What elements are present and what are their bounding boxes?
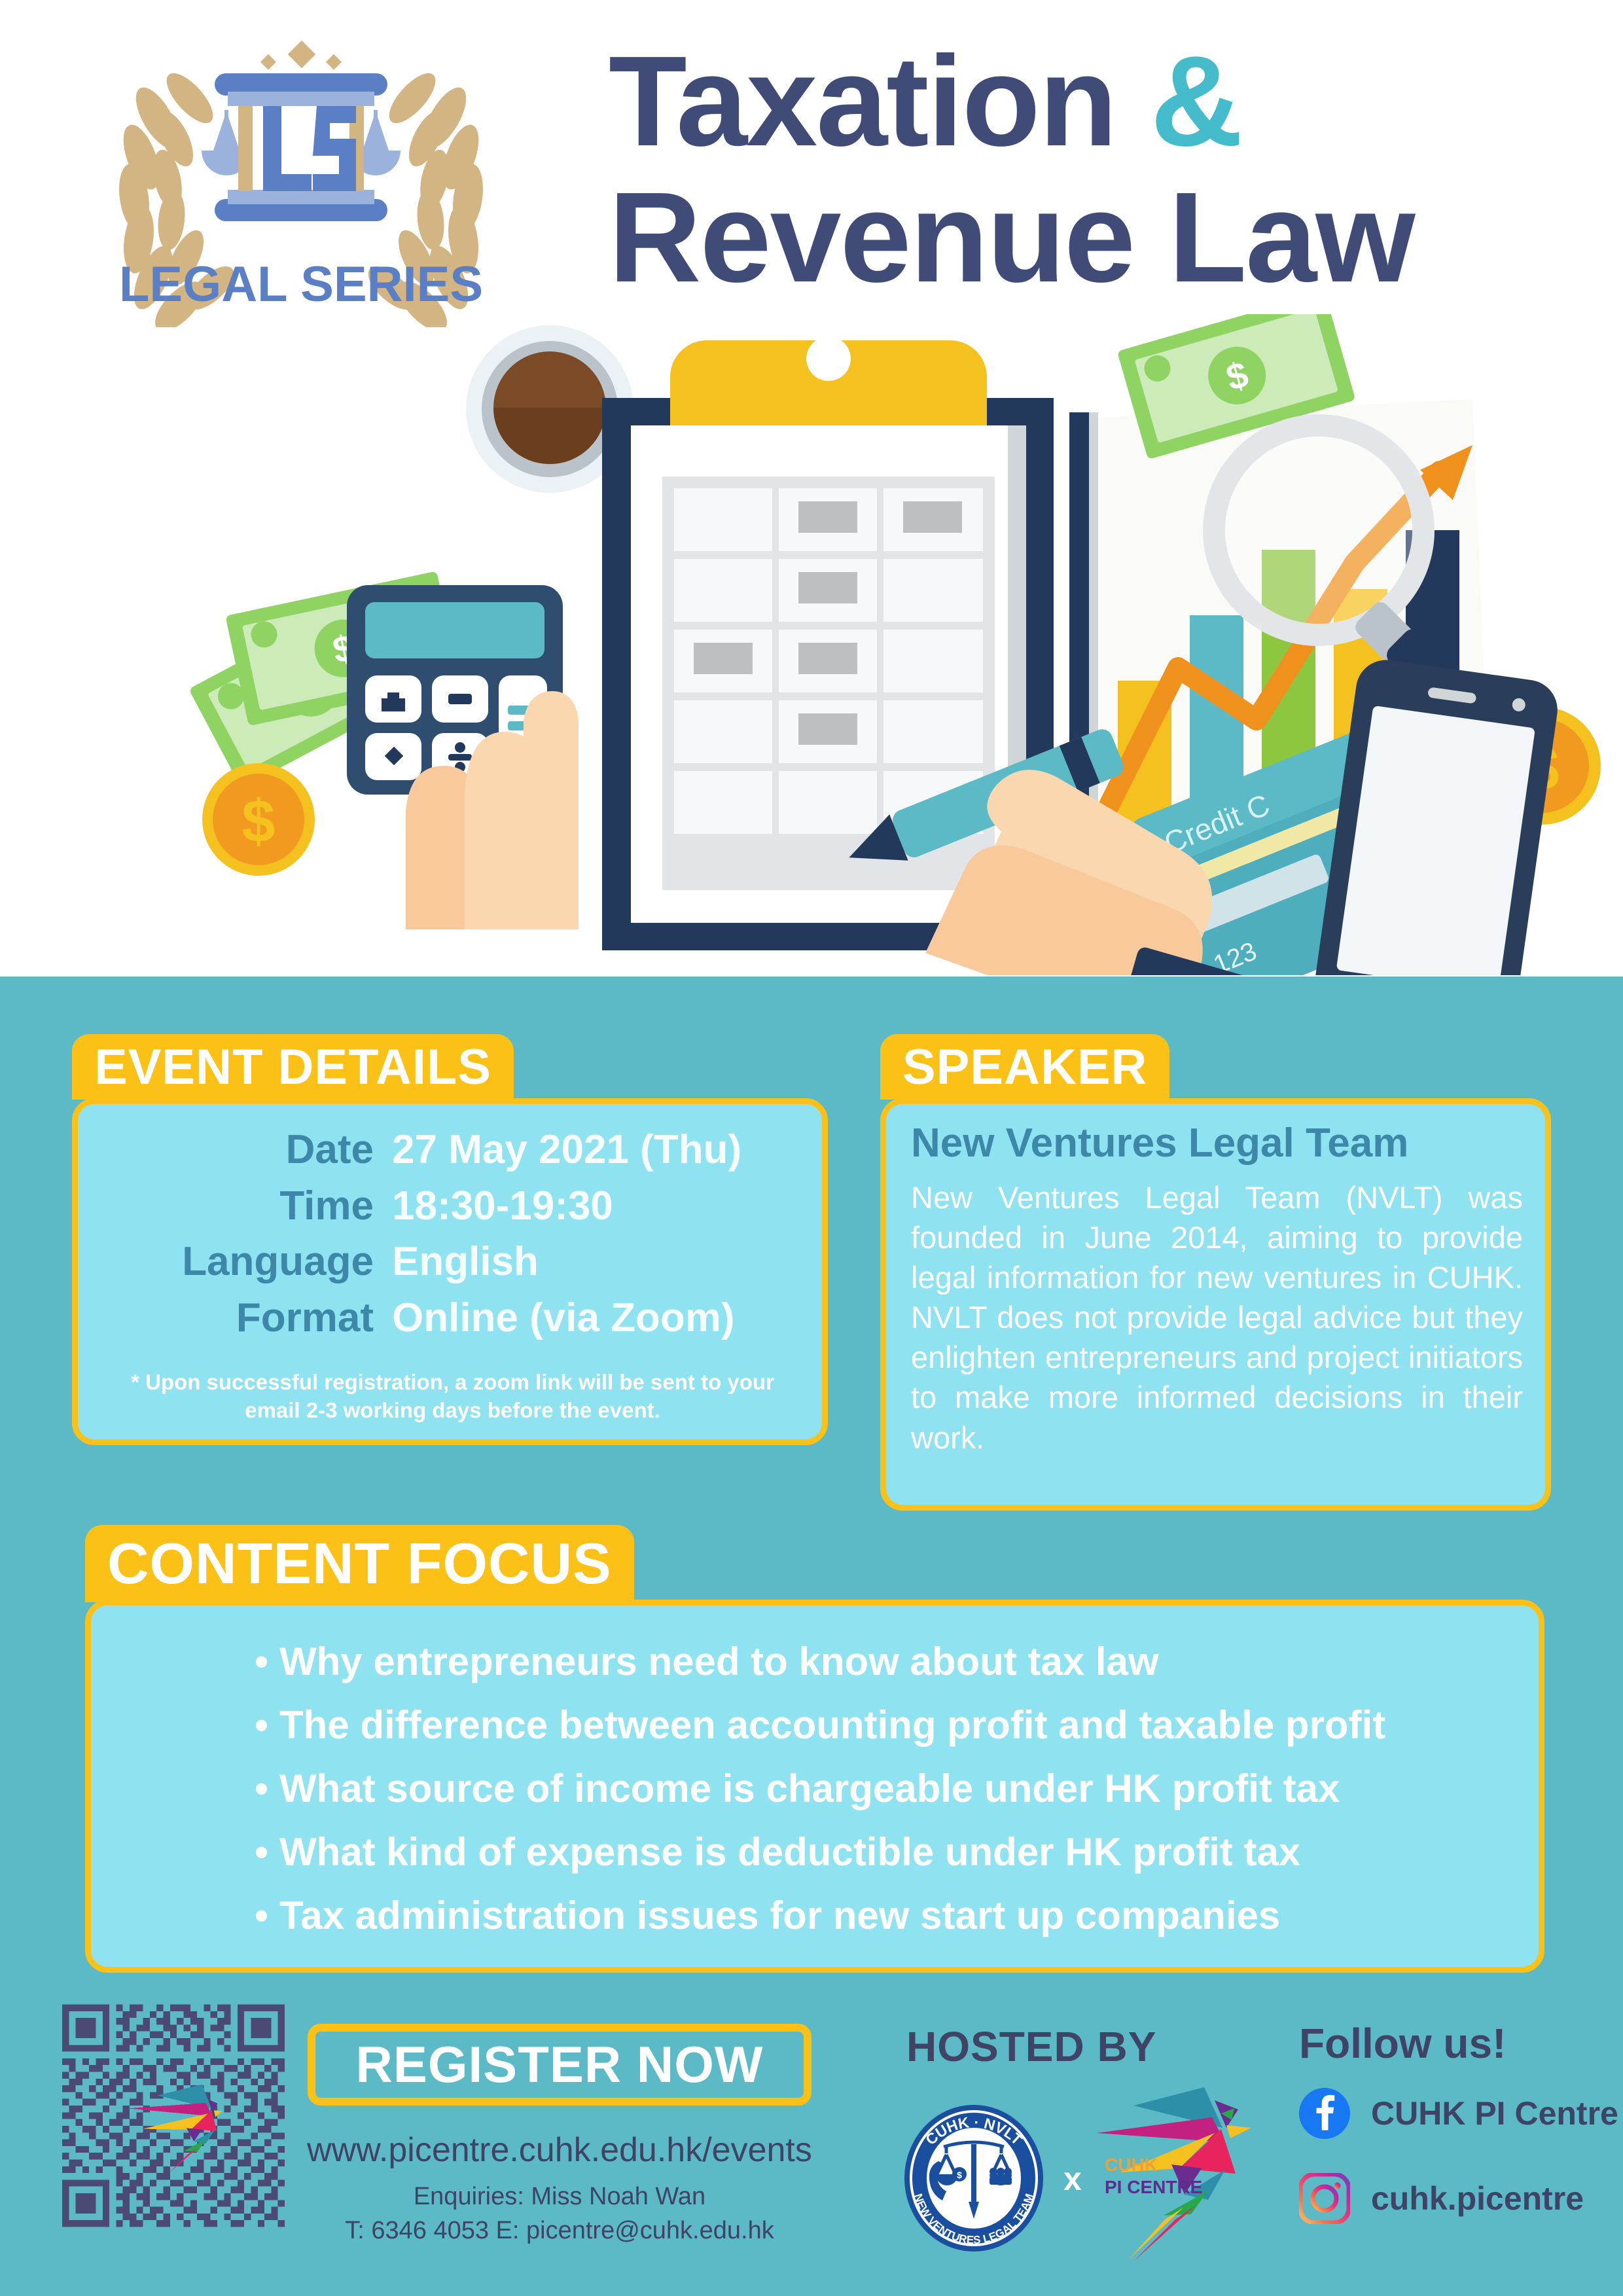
list-item: • The difference between accounting prof… (91, 1700, 1539, 1749)
hosted-by-label: HOSTED BY (906, 2022, 1156, 2071)
event-value-time: 18:30-19:30 (392, 1181, 613, 1231)
poster-root: LEGAL SERIES Taxation & Revenue Law $ (0, 0, 1623, 2296)
speaker-name: New Ventures Legal Team (911, 1121, 1525, 1166)
legal-series-logo-text: LEGAL SERIES (119, 257, 483, 312)
speaker-tab: SPEAKER (880, 1034, 1169, 1100)
event-details-tab: EVENT DETAILS (72, 1034, 514, 1100)
hero-section: LEGAL SERIES Taxation & Revenue Law $ (0, 0, 1623, 977)
event-value-format: Online (via Zoom) (392, 1293, 735, 1343)
bullet-icon: • (255, 1637, 279, 1686)
content-focus-item-text: What source of income is chargeable unde… (279, 1764, 1340, 1813)
content-focus-item-text: The difference between accounting profit… (279, 1700, 1385, 1749)
event-row-format: Format Online (via Zoom) (78, 1293, 822, 1343)
svg-text:$: $ (957, 2170, 962, 2180)
title-line-2: Revenue Law (609, 172, 1453, 303)
qr-code[interactable] (62, 2003, 285, 2229)
facebook-handle: CUHK PI Centre (1371, 2094, 1618, 2132)
gold-coin-icon-left: $ (202, 763, 315, 876)
enquiries-text: Enquiries: Miss Noah Wan T: 6346 4053 E:… (288, 2179, 831, 2248)
content-focus-list: • Why entrepreneurs need to know about t… (91, 1637, 1539, 1954)
social-link-facebook[interactable]: CUHK PI Centre (1299, 2088, 1618, 2139)
picentre-logo-line1: CUHK (1105, 2155, 1158, 2175)
follow-us-label: Follow us! (1299, 2019, 1506, 2068)
social-link-instagram[interactable]: cuhk.picentre (1299, 2173, 1584, 2224)
event-row-language: Language English (78, 1237, 822, 1287)
speaker-description: New Ventures Legal Team (NVLT) was found… (911, 1177, 1523, 1458)
bullet-icon: • (255, 1700, 279, 1749)
event-label-date: Date (78, 1125, 392, 1175)
content-focus-item-text: Why entrepreneurs need to know about tax… (279, 1637, 1159, 1686)
content-focus-item-text: Tax administration issues for new start … (279, 1891, 1280, 1940)
facebook-icon (1299, 2088, 1350, 2139)
hero-illustration: $ $ (157, 314, 1610, 975)
bullet-icon: • (255, 1827, 279, 1876)
bullet-icon: • (255, 1891, 279, 1940)
event-details-rows: Date 27 May 2021 (Thu) Time 18:30-19:30 … (78, 1125, 822, 1350)
bullet-icon: • (255, 1764, 279, 1813)
picentre-logo-line2: PI CENTRE (1105, 2177, 1202, 2197)
content-focus-item-text: What kind of expense is deductible under… (279, 1827, 1300, 1876)
instagram-icon (1299, 2173, 1350, 2224)
list-item: • Tax administration issues for new star… (91, 1891, 1539, 1940)
speaker-card: New Ventures Legal Team New Ventures Leg… (880, 1098, 1551, 1511)
picentre-bird-logo: CUHK PI CENTRE (1086, 2065, 1276, 2268)
event-value-language: English (392, 1237, 539, 1287)
title-main-word: Taxation (609, 29, 1150, 173)
content-focus-tab: CONTENT FOCUS (85, 1525, 634, 1602)
content-focus-card: • Why entrepreneurs need to know about t… (85, 1600, 1544, 1973)
list-item: • What kind of expense is deductible und… (91, 1827, 1539, 1876)
list-item: • What source of income is chargeable un… (91, 1764, 1539, 1813)
instagram-handle: cuhk.picentre (1371, 2179, 1584, 2217)
poster-title: Taxation & Revenue Law (609, 36, 1453, 303)
cuhk-nvlt-seal-logo: CUHK · NVLT NEW VENTURES LEGAL TEAM $ (895, 2094, 1052, 2258)
legal-series-logo: LEGAL SERIES (98, 26, 504, 327)
registration-url[interactable]: www.picentre.cuhk.edu.hk/events (288, 2130, 831, 2170)
title-line-1: Taxation & (609, 36, 1453, 167)
svg-text:$: $ (241, 788, 275, 855)
event-registration-note: * Upon successful registration, a zoom l… (103, 1369, 802, 1425)
list-item: • Why entrepreneurs need to know about t… (91, 1637, 1539, 1686)
event-label-format: Format (78, 1293, 392, 1343)
event-details-card: Date 27 May 2021 (Thu) Time 18:30-19:30 … (72, 1098, 828, 1445)
collaboration-symbol: x (1063, 2160, 1082, 2198)
event-value-date: 27 May 2021 (Thu) (392, 1125, 741, 1175)
register-now-button[interactable]: REGISTER NOW (308, 2024, 811, 2106)
event-row-time: Time 18:30-19:30 (78, 1181, 822, 1231)
event-row-date: Date 27 May 2021 (Thu) (78, 1125, 822, 1175)
title-ampersand: & (1150, 29, 1242, 173)
event-label-language: Language (78, 1237, 392, 1287)
event-label-time: Time (78, 1181, 392, 1231)
